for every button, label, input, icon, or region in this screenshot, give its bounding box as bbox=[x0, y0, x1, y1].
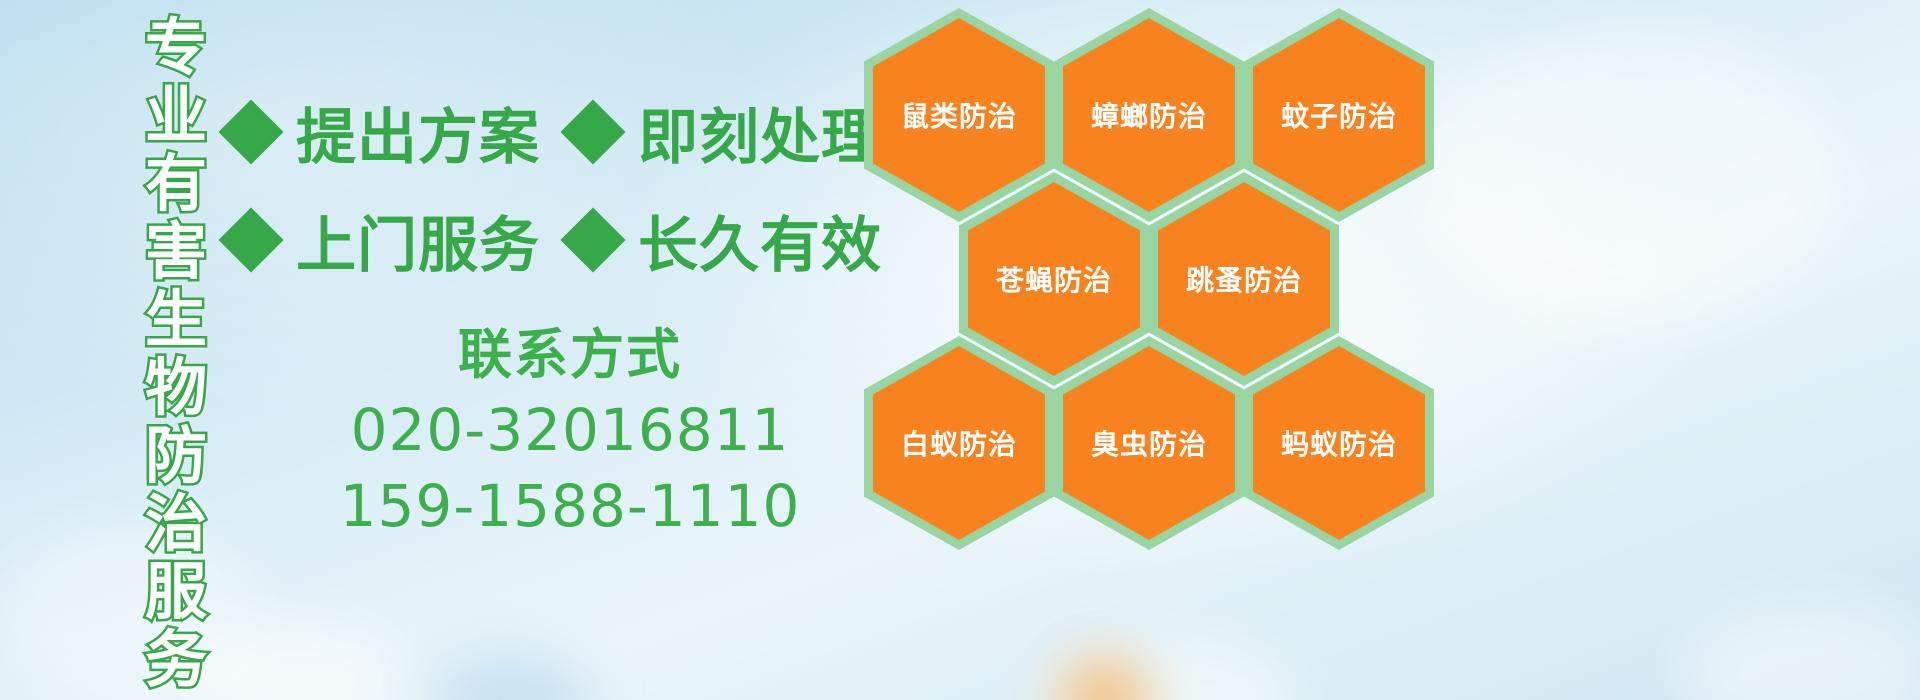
service-label: 跳蚤防治 bbox=[1186, 259, 1302, 299]
service-label: 苍蝇防治 bbox=[996, 259, 1112, 299]
feature-label: 即刻处理 bbox=[638, 89, 882, 176]
vertical-title-char: 务 bbox=[145, 626, 207, 694]
vertical-title: 专 业 有 害 生 物 防 治 服 务 bbox=[128, 14, 224, 686]
vertical-title-char: 有 bbox=[145, 150, 207, 218]
contact-phone-landline[interactable]: 020-32016811 bbox=[300, 392, 840, 468]
service-label: 蟑螂防治 bbox=[1091, 95, 1207, 135]
vertical-title-char: 专 bbox=[145, 14, 207, 82]
feature-label: 上门服务 bbox=[296, 197, 540, 284]
diamond-icon bbox=[560, 99, 625, 164]
background-bokeh bbox=[1040, 640, 1300, 700]
background-bokeh bbox=[1680, 600, 1920, 700]
feature-item-immediate-handling: 即刻处理 bbox=[570, 89, 882, 176]
background-glow bbox=[1420, 30, 1840, 330]
contact-title: 联系方式 bbox=[300, 318, 840, 392]
pest-control-banner: 专 业 有 害 生 物 防 治 服 务 提出方案 即刻处理 上门服务 bbox=[0, 0, 1920, 700]
background-bokeh bbox=[430, 655, 590, 700]
vertical-title-char: 业 bbox=[145, 82, 207, 150]
service-hexagon-grid: 鼠类防治 蟑螂防治 蚊子防治 苍蝇防治 跳蚤防治 白蚁防治 臭虫防治 蚂蚁 bbox=[860, 0, 1460, 560]
vertical-title-char: 治 bbox=[145, 490, 207, 558]
feature-item-long-lasting: 长久有效 bbox=[570, 197, 882, 284]
diamond-icon bbox=[218, 99, 283, 164]
service-label: 蚂蚁防治 bbox=[1281, 423, 1397, 463]
vertical-title-char: 害 bbox=[145, 218, 207, 286]
feature-list: 提出方案 即刻处理 上门服务 长久有效 bbox=[228, 78, 868, 294]
feature-label: 提出方案 bbox=[296, 89, 540, 176]
vertical-title-char: 防 bbox=[145, 422, 207, 490]
service-label: 白蚁防治 bbox=[901, 423, 1017, 463]
diamond-icon bbox=[218, 207, 283, 272]
feature-item-onsite-service: 上门服务 bbox=[228, 197, 540, 284]
contact-phone-mobile[interactable]: 159-1588-1110 bbox=[300, 468, 840, 544]
feature-row: 上门服务 长久有效 bbox=[228, 186, 868, 294]
vertical-title-char: 物 bbox=[145, 354, 207, 422]
feature-item-propose-plan: 提出方案 bbox=[228, 89, 540, 176]
service-label: 鼠类防治 bbox=[901, 95, 1017, 135]
vertical-title-char: 生 bbox=[145, 286, 207, 354]
vertical-title-char: 服 bbox=[145, 558, 207, 626]
contact-block: 联系方式 020-32016811 159-1588-1110 bbox=[300, 318, 840, 544]
service-label: 蚊子防治 bbox=[1281, 95, 1397, 135]
diamond-icon bbox=[560, 207, 625, 272]
background-bokeh-orange bbox=[1060, 660, 1150, 700]
feature-label: 长久有效 bbox=[638, 197, 882, 284]
service-label: 臭虫防治 bbox=[1091, 423, 1207, 463]
feature-row: 提出方案 即刻处理 bbox=[228, 78, 868, 186]
